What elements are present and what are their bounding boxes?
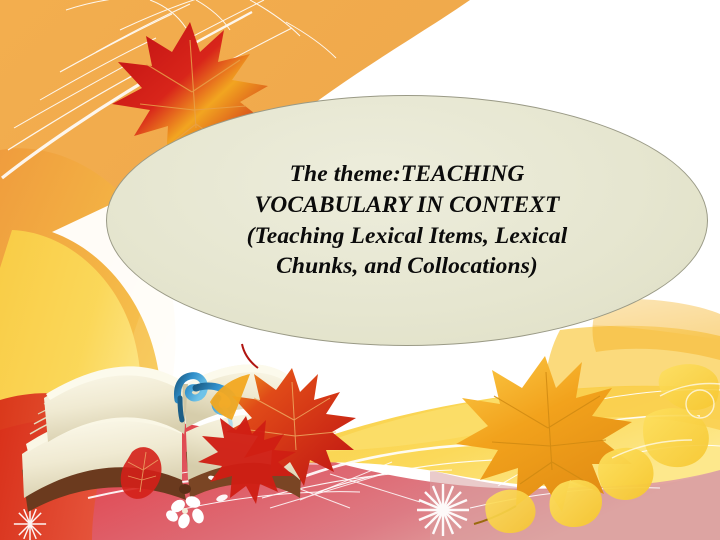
slide-title: The theme:TEACHING VOCABULARY IN CONTEXT… <box>197 159 617 281</box>
title-line-1: The theme:TEACHING <box>197 159 617 190</box>
presentation-slide: The theme:TEACHING VOCABULARY IN CONTEXT… <box>0 0 720 540</box>
title-line-4: Chunks, and Collocations) <box>197 251 617 282</box>
title-line-3: (Teaching Lexical Items, Lexical <box>197 221 617 252</box>
title-line-2: VOCABULARY IN CONTEXT <box>197 190 617 221</box>
title-ellipse-shape: The theme:TEACHING VOCABULARY IN CONTEXT… <box>106 95 708 346</box>
